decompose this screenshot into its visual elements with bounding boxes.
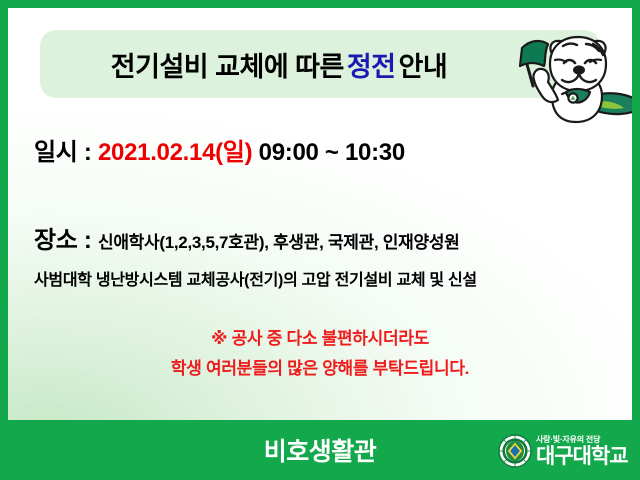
poster-root: 일시 : 2021.02.14(일) 09:00 ~ 10:30 장소 : 신애… (0, 0, 640, 480)
place-value: 신애학사(1,2,3,5,7호관), 후생관, 국제관, 인재양성원 (98, 233, 460, 252)
place-label: 장소 : (34, 227, 98, 254)
page-title: 전기설비 교체에 따른 정전 안내 (40, 30, 518, 98)
tiger-mascot-icon (500, 24, 632, 128)
detail-line: 사범대학 냉난방시스템 교체공사(전기)의 고압 전기설비 교체 및 신설 (34, 266, 477, 290)
apology-notice-line-1: ※ 공사 중 다소 불편하시더라도 (8, 324, 632, 354)
page-title-prefix: 전기설비 교체에 따른 (111, 45, 344, 84)
schedule-date: 2021.02.14(일) (98, 139, 252, 166)
footer-bar: 비호생활관 (0, 420, 640, 480)
poster-content-sheet: 일시 : 2021.02.14(일) 09:00 ~ 10:30 장소 : 신애… (8, 8, 632, 420)
schedule-time: 09:00 ~ 10:30 (252, 139, 405, 166)
apology-notice: ※ 공사 중 다소 불편하시더라도 학생 여러분들의 많은 양해를 부탁드립니다… (8, 324, 632, 384)
page-title-highlight: 정전 (344, 45, 399, 84)
place-line: 장소 : 신애학사(1,2,3,5,7호관), 후생관, 국제관, 인재양성원 (34, 220, 460, 255)
university-tagline: 사랑·빛·자유의 전당 (536, 436, 600, 444)
university-logo: 사랑·빛·자유의 전당 대구대학교 (498, 430, 634, 472)
schedule-label: 일시 : (34, 139, 98, 166)
page-title-suffix: 안내 (399, 45, 448, 84)
university-logo-text: 사랑·빛·자유의 전당 대구대학교 (536, 436, 628, 467)
daegu-university-emblem-icon (498, 434, 532, 468)
university-name: 대구대학교 (536, 446, 628, 467)
schedule-line: 일시 : 2021.02.14(일) 09:00 ~ 10:30 (34, 132, 405, 167)
apology-notice-line-2: 학생 여러분들의 많은 양해를 부탁드립니다. (8, 354, 632, 384)
